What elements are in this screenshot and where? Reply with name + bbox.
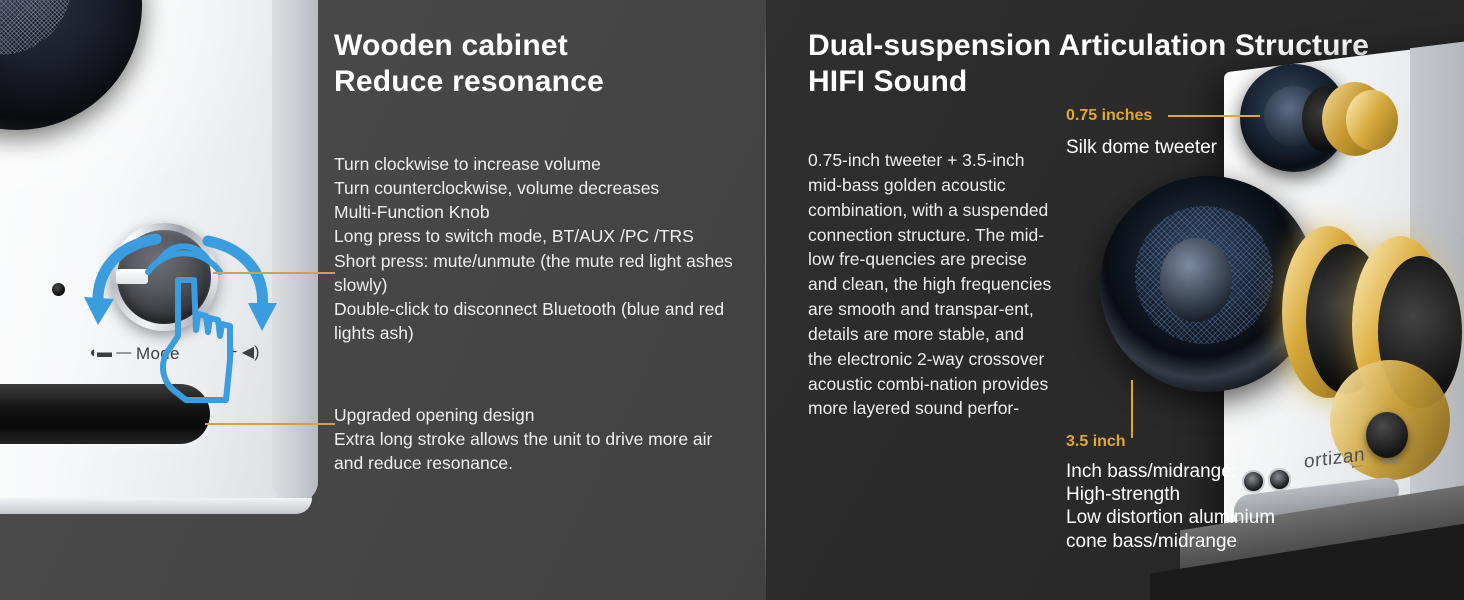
woofer-measure-label: 3.5 inch — [1066, 433, 1126, 451]
woofer-dust-cap — [1160, 238, 1232, 322]
cabinet-bottom-edge — [0, 498, 312, 514]
right-paragraph-text: 0.75-inch tweeter + 3.5-inch mid-bass go… — [808, 148, 1053, 421]
speaker-cabinet-edge — [272, 0, 318, 502]
volume-down-icon: ◖▬ — — [88, 344, 131, 361]
multi-function-knob — [110, 223, 218, 331]
tweeter-gold-ring-2 — [1346, 90, 1398, 150]
port-description-text: Upgraded opening design Extra long strok… — [334, 403, 746, 475]
bass-reflex-port — [0, 384, 210, 444]
knob-leader-line — [213, 272, 335, 274]
knob-instructions-text: Turn clockwise to increase volume Turn c… — [334, 152, 746, 345]
right-device-knob — [1366, 412, 1408, 458]
panel-divider — [765, 18, 766, 584]
woofer-desc-line3: Low distortion aluminium — [1066, 506, 1366, 529]
woofer-desc-line2: High-strength — [1066, 483, 1366, 506]
volume-up-icon: + ◀) — [228, 342, 259, 362]
infographic-canvas: ◖▬ — Mode + ◀) Wooden cabinet Reduce res… — [0, 0, 1464, 600]
tweeter-callout-line — [1168, 115, 1260, 117]
left-heading-line2: Reduce resonance — [334, 64, 754, 100]
woofer-desc-line1: Inch bass/midrange: — [1066, 460, 1366, 483]
left-heading: Wooden cabinet Reduce resonance — [334, 28, 754, 100]
knob-indicator-mark — [116, 269, 148, 284]
woofer-desc-line4: cone bass/midrange — [1066, 530, 1366, 553]
woofer-callout-line — [1131, 380, 1133, 438]
status-led-dot — [52, 283, 65, 296]
plus-mini-label: +◂ — [1422, 452, 1430, 461]
port-leader-line — [205, 423, 335, 425]
tweeter-measure-label: 0.75 inches — [1066, 107, 1152, 125]
left-heading-line1: Wooden cabinet — [334, 28, 754, 64]
tweeter-name-label: Silk dome tweeter — [1066, 136, 1217, 159]
mode-label: Mode — [136, 344, 180, 364]
woofer-description: Inch bass/midrange: High-strength Low di… — [1066, 460, 1366, 553]
left-product-photo: ◖▬ — Mode + ◀) — [0, 0, 320, 600]
